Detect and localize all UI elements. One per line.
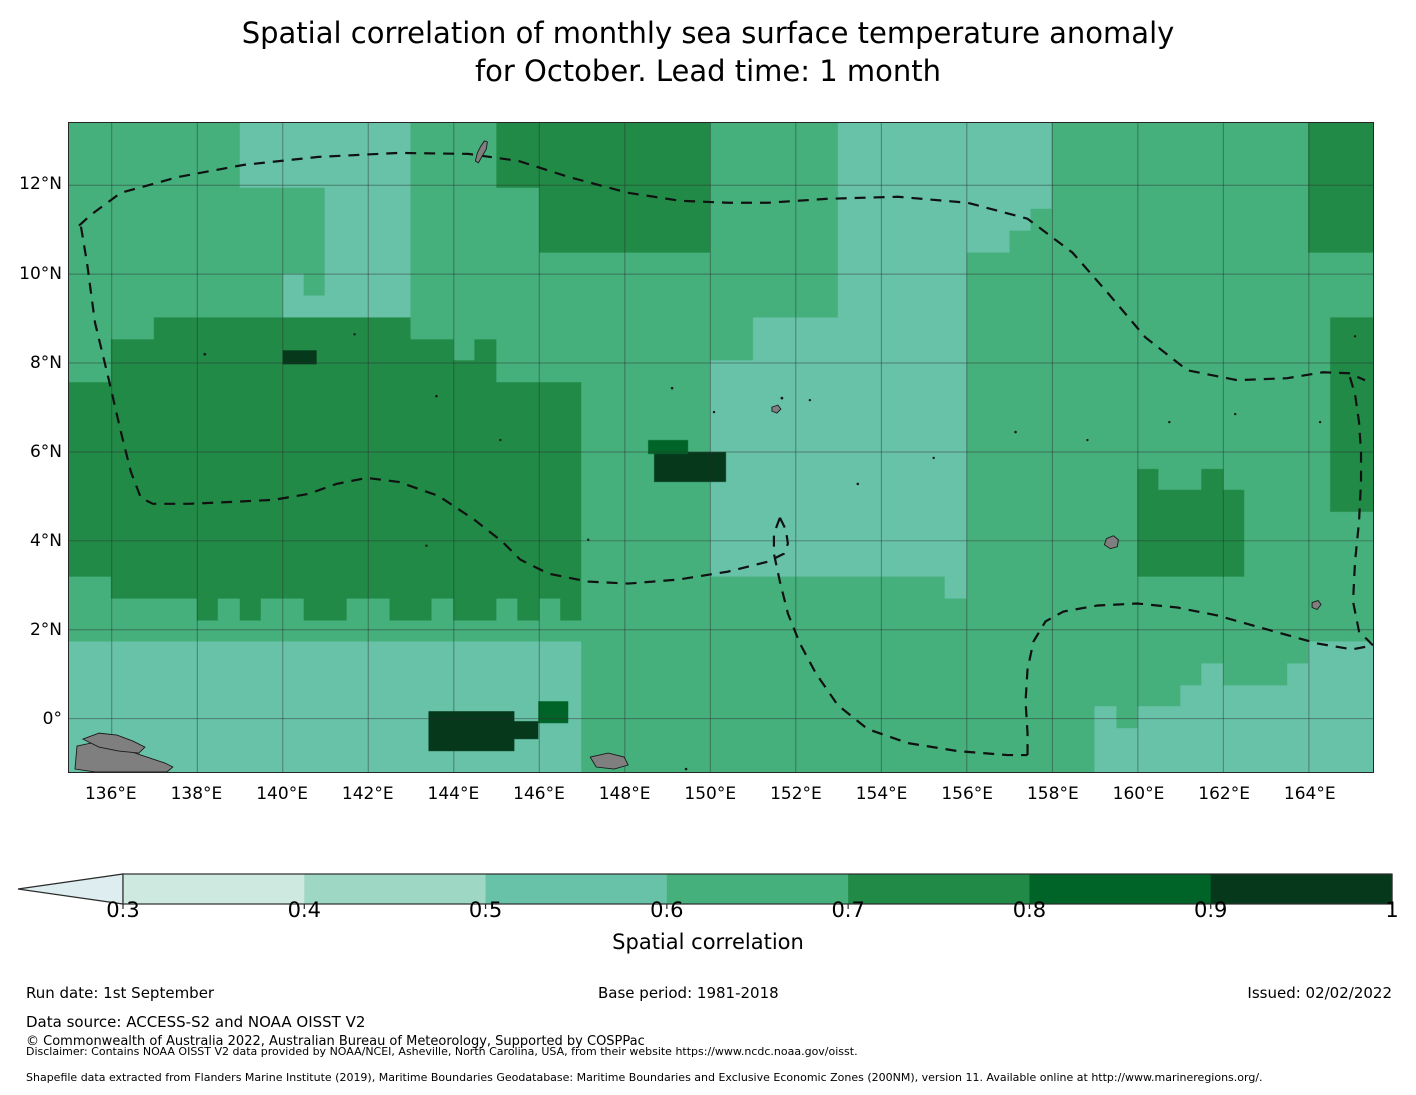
- x-tick-label: 152°E: [770, 784, 822, 804]
- colorbar-tick-label: 1: [1385, 898, 1398, 922]
- colorbar-tick-label: 0.6: [650, 898, 683, 922]
- x-tick-label: 136°E: [85, 784, 137, 804]
- colorbar-tick-label: 0.7: [831, 898, 864, 922]
- atoll-specks: [203, 333, 1356, 772]
- colorbar-tick-label: 0.5: [469, 898, 502, 922]
- x-tick-label: 158°E: [1027, 784, 1079, 804]
- y-tick-label: 10°N: [19, 264, 62, 284]
- base-period-text: Base period: 1981-2018: [598, 984, 779, 1002]
- x-tick-label: 154°E: [856, 784, 908, 804]
- y-tick-label: 8°N: [30, 353, 62, 373]
- x-tick-label: 164°E: [1284, 784, 1336, 804]
- colorbar-tick-label: 0.3: [106, 898, 139, 922]
- x-tick-label: 146°E: [513, 784, 565, 804]
- colorbar-title: Spatial correlation: [0, 930, 1416, 954]
- colorbar-tick-label: 0.8: [1013, 898, 1046, 922]
- disclaimer-text: Disclaimer: Contains NOAA OISST V2 data …: [26, 1045, 858, 1058]
- issued-date-text: Issued: 02/02/2022: [1247, 984, 1392, 1002]
- x-tick-label: 140°E: [256, 784, 308, 804]
- colorbar-tick-label: 0.9: [1194, 898, 1227, 922]
- y-tick-label: 6°N: [30, 442, 62, 462]
- x-tick-label: 162°E: [1198, 784, 1250, 804]
- x-tick-label: 156°E: [941, 784, 993, 804]
- x-tick-label: 160°E: [1113, 784, 1165, 804]
- y-tick-label: 0°: [43, 709, 62, 729]
- data-source-text: Data source: ACCESS-S2 and NOAA OISST V2: [26, 1013, 365, 1031]
- eez-boundary-line: [79, 153, 1373, 755]
- page-title: Spatial correlation of monthly sea surfa…: [0, 14, 1416, 90]
- x-tick-label: 150°E: [684, 784, 736, 804]
- y-tick-label: 4°N: [30, 531, 62, 551]
- map-vector-overlay: [69, 123, 1373, 772]
- x-tick-label: 138°E: [171, 784, 223, 804]
- shapefile-credit-text: Shapefile data extracted from Flanders M…: [26, 1071, 1263, 1084]
- run-date-text: Run date: 1st September: [26, 984, 214, 1002]
- y-tick-label: 2°N: [30, 620, 62, 640]
- y-tick-label: 12°N: [19, 174, 62, 194]
- metadata-row: Run date: 1st September Base period: 198…: [0, 984, 1416, 1006]
- x-tick-label: 142°E: [342, 784, 394, 804]
- x-tick-label: 144°E: [428, 784, 480, 804]
- figure-root: Spatial correlation of monthly sea surfa…: [0, 0, 1416, 1095]
- x-tick-label: 148°E: [599, 784, 651, 804]
- island-landmasses: [75, 141, 1321, 772]
- colorbar-tick-label: 0.4: [288, 898, 321, 922]
- map-plot-area[interactable]: [68, 122, 1374, 773]
